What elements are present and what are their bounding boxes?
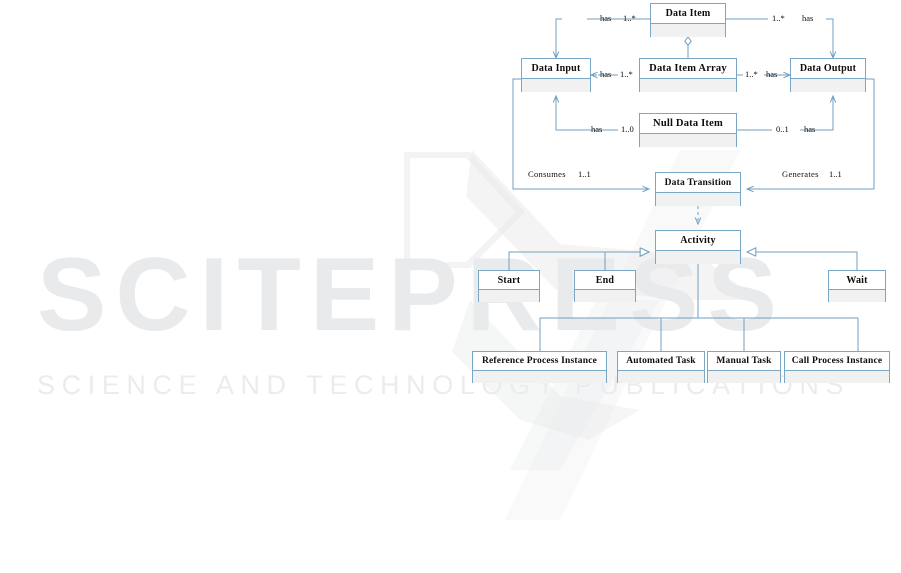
class-attributes-data-input bbox=[522, 79, 590, 92]
class-attributes-end bbox=[575, 290, 635, 302]
edge-label-generates-role: Generates bbox=[782, 170, 819, 179]
class-box-data-output[interactable]: Data Output bbox=[790, 58, 866, 92]
class-box-data-input[interactable]: Data Input bbox=[521, 58, 591, 92]
class-box-reference-process-instance[interactable]: Reference Process Instance bbox=[472, 351, 607, 383]
class-attributes-call-process-instance bbox=[785, 371, 889, 383]
class-name-data-item: Data Item bbox=[651, 4, 725, 24]
class-attributes-null-data-item bbox=[640, 134, 736, 147]
edge-label-array-has-output-role: has bbox=[766, 70, 777, 79]
class-attributes-wait bbox=[829, 290, 885, 302]
edge-label-data-item-has-output-mult: 1..* bbox=[772, 14, 785, 23]
edge-label-consumes-mult: 1..1 bbox=[578, 170, 591, 179]
class-name-manual-task: Manual Task bbox=[708, 352, 780, 371]
class-name-wait: Wait bbox=[829, 271, 885, 290]
class-name-end: End bbox=[575, 271, 635, 290]
edge-label-data-item-has-input-role: has bbox=[600, 14, 611, 23]
class-name-activity: Activity bbox=[656, 231, 740, 251]
class-box-data-item-array[interactable]: Data Item Array bbox=[639, 58, 737, 92]
class-attributes-data-item-array bbox=[640, 79, 736, 92]
class-box-layer: Data Item Data Input Data Item Array Dat… bbox=[0, 0, 901, 573]
class-attributes-data-transition bbox=[656, 193, 740, 206]
class-name-data-item-array: Data Item Array bbox=[640, 59, 736, 79]
class-box-call-process-instance[interactable]: Call Process Instance bbox=[784, 351, 890, 383]
class-attributes-reference-process-instance bbox=[473, 371, 606, 383]
class-box-data-item[interactable]: Data Item bbox=[650, 3, 726, 37]
class-box-start[interactable]: Start bbox=[478, 270, 540, 302]
class-name-reference-process-instance: Reference Process Instance bbox=[473, 352, 606, 371]
class-attributes-automated-task bbox=[618, 371, 704, 383]
class-name-call-process-instance: Call Process Instance bbox=[785, 352, 889, 371]
class-name-data-transition: Data Transition bbox=[656, 173, 740, 193]
diagram-canvas: SCITEPRESS SCIENCE AND TECHNOLOGY PUBLIC… bbox=[0, 0, 901, 573]
edge-label-data-item-has-output-role: has bbox=[802, 14, 813, 23]
edge-label-array-has-input-mult: 1..* bbox=[620, 70, 633, 79]
class-attributes-manual-task bbox=[708, 371, 780, 383]
class-box-wait[interactable]: Wait bbox=[828, 270, 886, 302]
class-name-start: Start bbox=[479, 271, 539, 290]
class-name-data-input: Data Input bbox=[522, 59, 590, 79]
class-name-data-output: Data Output bbox=[791, 59, 865, 79]
class-box-data-transition[interactable]: Data Transition bbox=[655, 172, 741, 206]
edge-label-null-has-output-role: has bbox=[804, 125, 815, 134]
class-box-automated-task[interactable]: Automated Task bbox=[617, 351, 705, 383]
edge-label-null-has-input-mult: 1..0 bbox=[621, 125, 634, 134]
class-attributes-start bbox=[479, 290, 539, 302]
class-name-null-data-item: Null Data Item bbox=[640, 114, 736, 134]
class-attributes-data-output bbox=[791, 79, 865, 92]
class-attributes-data-item bbox=[651, 24, 725, 37]
class-box-manual-task[interactable]: Manual Task bbox=[707, 351, 781, 383]
edge-label-null-has-output-mult: 0..1 bbox=[776, 125, 789, 134]
class-box-activity[interactable]: Activity bbox=[655, 230, 741, 264]
edge-label-generates-mult: 1..1 bbox=[829, 170, 842, 179]
edge-label-data-item-has-input-mult: 1..* bbox=[623, 14, 636, 23]
edge-label-consumes-role: Consumes bbox=[528, 170, 566, 179]
class-name-automated-task: Automated Task bbox=[618, 352, 704, 371]
class-box-end[interactable]: End bbox=[574, 270, 636, 302]
edge-label-null-has-input-role: has bbox=[591, 125, 602, 134]
class-box-null-data-item[interactable]: Null Data Item bbox=[639, 113, 737, 147]
edge-label-array-has-output-mult: 1..* bbox=[745, 70, 758, 79]
class-attributes-activity bbox=[656, 251, 740, 264]
edge-label-array-has-input-role: has bbox=[600, 70, 611, 79]
